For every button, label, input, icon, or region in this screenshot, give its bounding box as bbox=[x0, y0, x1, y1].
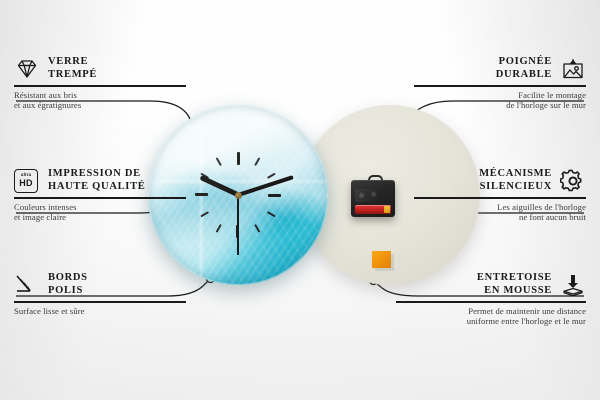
picture-frame-icon bbox=[560, 57, 586, 81]
callout-title: MÉCANISME SILENCIEUX bbox=[479, 168, 552, 193]
callout-title: POIGNÉE DURABLE bbox=[496, 56, 552, 81]
polished-edges-icon bbox=[14, 273, 40, 297]
callout-header: ultra HD IMPRESSION DE HAUTE QUALITÉ bbox=[14, 168, 186, 193]
callout-entretoise-en-mousse: ENTRETOISE EN MOUSSE Permet de maintenir… bbox=[396, 272, 586, 327]
callout-impression-haute-qualite: ultra HD IMPRESSION DE HAUTE QUALITÉ Cou… bbox=[14, 168, 186, 223]
foam-spacer-icon bbox=[560, 273, 586, 297]
callout-rule bbox=[414, 85, 586, 87]
callout-mecanisme-silencieux: MÉCANISME SILENCIEUX Les aiguilles de l'… bbox=[414, 168, 586, 223]
callout-header: ENTRETOISE EN MOUSSE bbox=[396, 272, 586, 297]
callout-title: ENTRETOISE EN MOUSSE bbox=[477, 272, 552, 297]
callout-title: VERRE TREMPÉ bbox=[48, 56, 97, 81]
diamond-icon bbox=[14, 57, 40, 81]
foam-spacer bbox=[372, 251, 391, 268]
quartz-movement bbox=[351, 175, 395, 217]
ultra-hd-icon: ultra HD bbox=[14, 169, 40, 193]
callout-description: Couleurs intenses et image claire bbox=[14, 202, 186, 223]
callout-rule bbox=[14, 197, 186, 199]
ultra-hd-badge: ultra HD bbox=[14, 169, 38, 193]
gear-icon bbox=[560, 169, 586, 193]
movement-detail bbox=[355, 189, 391, 202]
callout-title: IMPRESSION DE HAUTE QUALITÉ bbox=[48, 168, 146, 193]
infographic-canvas: VERRE TREMPÉ Résistant aux bris et aux é… bbox=[0, 0, 600, 400]
callout-header: BORDS POLIS bbox=[14, 272, 186, 297]
callout-header: POIGNÉE DURABLE bbox=[414, 56, 586, 81]
ultra-hd-main-text: HD bbox=[19, 179, 32, 188]
callout-description: Permet de maintenir une distance uniform… bbox=[396, 306, 586, 327]
movement-body bbox=[351, 180, 395, 217]
callout-rule bbox=[396, 301, 586, 303]
callout-rule bbox=[14, 85, 186, 87]
callout-title: BORDS POLIS bbox=[48, 272, 88, 297]
callout-bords-polis: BORDS POLIS Surface lisse et sûre bbox=[14, 272, 186, 316]
movement-battery bbox=[355, 205, 391, 214]
callout-poignee-durable: POIGNÉE DURABLE Facilite le montage de l… bbox=[414, 56, 586, 111]
callout-header: VERRE TREMPÉ bbox=[14, 56, 186, 81]
callout-rule bbox=[414, 197, 586, 199]
callout-description: Surface lisse et sûre bbox=[14, 306, 186, 317]
callout-header: MÉCANISME SILENCIEUX bbox=[414, 168, 586, 193]
callout-description: Résistant aux bris et aux égratignures bbox=[14, 90, 186, 111]
callout-verre-trempe: VERRE TREMPÉ Résistant aux bris et aux é… bbox=[14, 56, 186, 111]
callout-description: Facilite le montage de l'horloge sur le … bbox=[414, 90, 586, 111]
callout-description: Les aiguilles de l'horloge ne font aucun… bbox=[414, 202, 586, 223]
callout-rule bbox=[14, 301, 186, 303]
